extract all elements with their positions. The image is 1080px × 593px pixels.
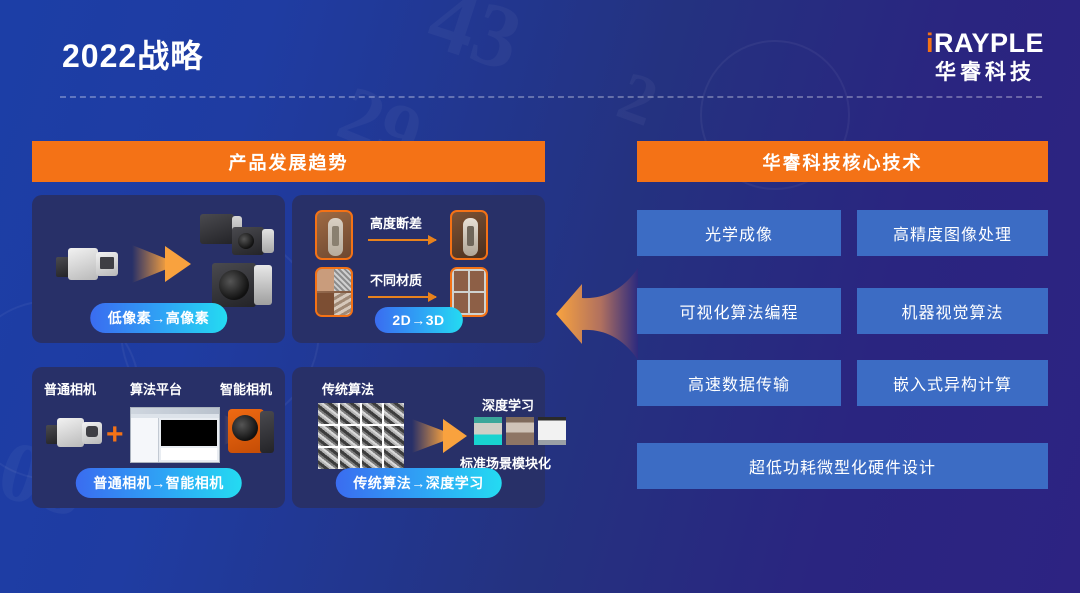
label-traditional-algorithm: 传统算法 [322, 379, 374, 398]
tech-box-high-speed-data-transmission[interactable]: 高速数据传输 [637, 360, 841, 406]
tech-box-visual-algorithm-programming[interactable]: 可视化算法编程 [637, 288, 841, 334]
smart-camera-rear [260, 411, 274, 453]
dl-thumb-brown [506, 417, 534, 445]
trend-pill-smart-camera: 普通相机→智能相机 [75, 468, 242, 498]
trend-panel-resolution[interactable]: 低像素→高像素 [32, 195, 285, 343]
label-smart-camera: 智能相机 [220, 379, 272, 398]
smart-camera-lens [232, 415, 258, 441]
label-normal-camera: 普通相机 [44, 379, 96, 398]
traditional-algorithm-grid [318, 403, 404, 469]
normal-camera-connector [86, 426, 98, 437]
tech-box-machine-vision-algorithm[interactable]: 机器视觉算法 [857, 288, 1048, 334]
deep-learning-thumbnails [474, 417, 566, 445]
thumb-2d-height-step [315, 210, 353, 260]
trend-pill-resolution: 低像素→高像素 [90, 303, 228, 333]
plus-icon: + [106, 420, 124, 450]
camera-dark-a [200, 214, 234, 244]
logo-letter-i: i [926, 28, 934, 58]
arrow-height-step [368, 239, 436, 241]
transition-arrow-tail [132, 245, 168, 283]
dl-thumb-gray [538, 417, 566, 445]
deep-learning-arrow-tail [412, 419, 446, 453]
algorithm-platform-screenshot [130, 407, 220, 463]
trend-panel-deep-learning[interactable]: 传统算法 深度学习 标准场景模块化 传统算法→深度学习 [292, 367, 545, 508]
thumb-label-material: 不同材质 [370, 270, 422, 289]
transition-arrow-icon [165, 246, 191, 282]
tech-box-optical-imaging[interactable]: 光学成像 [637, 210, 841, 256]
camera-dark-large-side [254, 265, 272, 305]
logo-chinese-name: 华睿科技 [926, 62, 1044, 83]
page-title: 2022战略 [62, 31, 203, 77]
dl-thumb-teal [474, 417, 502, 445]
tech-box-ultra-low-power-hardware-design[interactable]: 超低功耗微型化硬件设计 [637, 443, 1048, 489]
core-tech-to-trend-arrow [556, 268, 638, 360]
label-deep-learning: 深度学习 [482, 395, 534, 414]
logo-wordmark: iRAYPLE [926, 30, 1044, 57]
watermark-number: 43 [416, 0, 533, 92]
trend-pill-dimension: 2D→3D [374, 307, 462, 333]
arrow-material [368, 296, 436, 298]
tech-box-high-precision-image-processing[interactable]: 高精度图像处理 [857, 210, 1048, 256]
section-heading-core-tech: 华睿科技核心技术 [637, 141, 1048, 182]
logo-wordmark-rest: RAYPLE [934, 28, 1044, 58]
camera-body-small [68, 248, 98, 280]
brand-logo: iRAYPLE 华睿科技 [926, 30, 1044, 83]
camera-dark-b-lens [238, 233, 254, 249]
trend-panel-dimension[interactable]: 高度断差 不同材质 2D→3D [292, 195, 545, 343]
trend-panel-smart-camera[interactable]: 普通相机 算法平台 智能相机 + 普通相机→智能相机 [32, 367, 285, 508]
thumb-3d-height-step [450, 210, 488, 260]
label-algorithm-platform: 算法平台 [130, 379, 182, 398]
header-divider [60, 96, 1042, 98]
trend-pill-deep-learning: 传统算法→深度学习 [335, 468, 502, 498]
deep-learning-arrow-icon [443, 419, 467, 453]
camera-dark-large-lens [219, 270, 249, 300]
camera-dark-b-side [262, 229, 274, 253]
thumb-label-height-step: 高度断差 [370, 213, 422, 232]
thumb-2d-material [315, 267, 353, 317]
normal-camera-body [57, 418, 84, 447]
tech-box-embedded-heterogeneous-computing[interactable]: 嵌入式异构计算 [857, 360, 1048, 406]
camera-connector-small [100, 257, 114, 269]
watermark-number: 2 [607, 56, 667, 143]
section-heading-product-trends: 产品发展趋势 [32, 141, 545, 182]
